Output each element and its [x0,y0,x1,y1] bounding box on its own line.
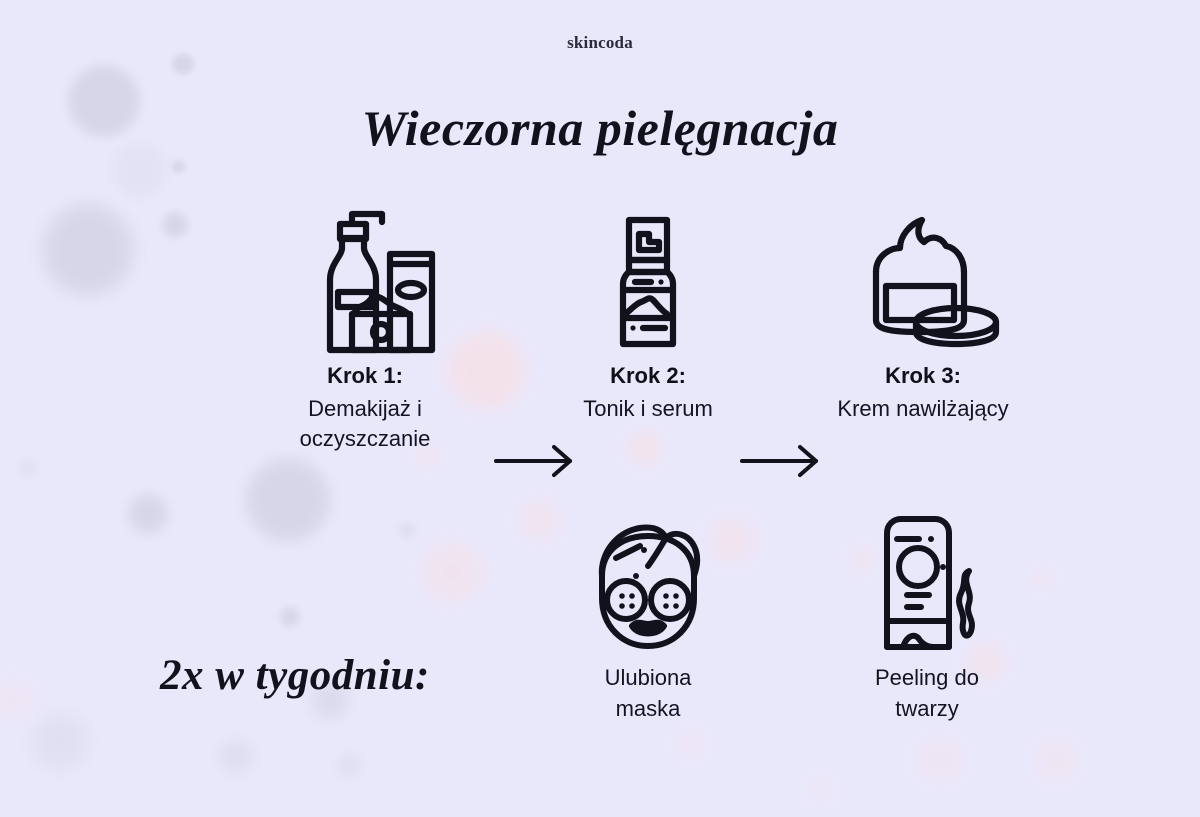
page-title: Wieczorna pielęgnacja [0,99,1200,157]
weekly-item-mask-label-line2: maska [518,694,778,725]
step-3-desc-line1: Krem nawilżający [783,394,1063,425]
steps-row: Krok 1: Demakijaż i oczyszczanie [0,196,1200,486]
infographic-canvas: skincoda Wieczorna pielęgnacja [0,0,1200,817]
brand-logo: skincoda [0,33,1200,53]
cream-jar-icon [783,196,1063,361]
cleanser-bottles-icon [225,196,505,361]
weekly-item-scrub-label: Peeling do twarzy [797,663,1057,725]
step-2-desc-line1: Tonik i serum [508,394,788,425]
face-mask-icon [518,505,778,663]
step-1-desc-line2: oczyszczanie [225,424,505,455]
scrub-tube-icon [797,505,1057,663]
arrow-right-icon-1 [492,444,578,478]
step-1-desc-line1: Demakijaż i [225,394,505,425]
serum-bottle-icon [508,196,788,361]
step-1-desc: Demakijaż i oczyszczanie [225,394,505,456]
weekly-items-row: Ulubiona maska [0,505,1200,755]
step-1: Krok 1: Demakijaż i oczyszczanie [225,196,505,455]
step-2-desc: Tonik i serum [508,394,788,425]
step-3-desc: Krem nawilżający [783,394,1063,425]
step-2: Krok 2: Tonik i serum [508,196,788,424]
weekly-item-mask-label: Ulubiona maska [518,663,778,725]
step-1-title: Krok 1: [225,361,505,391]
weekly-item-mask-label-line1: Ulubiona [518,663,778,694]
step-3-title: Krok 3: [783,361,1063,391]
step-3: Krok 3: Krem nawilżający [783,196,1063,424]
step-2-title: Krok 2: [508,361,788,391]
arrow-right-icon-2 [738,444,824,478]
weekly-item-scrub: Peeling do twarzy [797,505,1057,725]
weekly-item-scrub-label-line2: twarzy [797,694,1057,725]
weekly-item-scrub-label-line1: Peeling do [797,663,1057,694]
weekly-item-mask: Ulubiona maska [518,505,778,725]
